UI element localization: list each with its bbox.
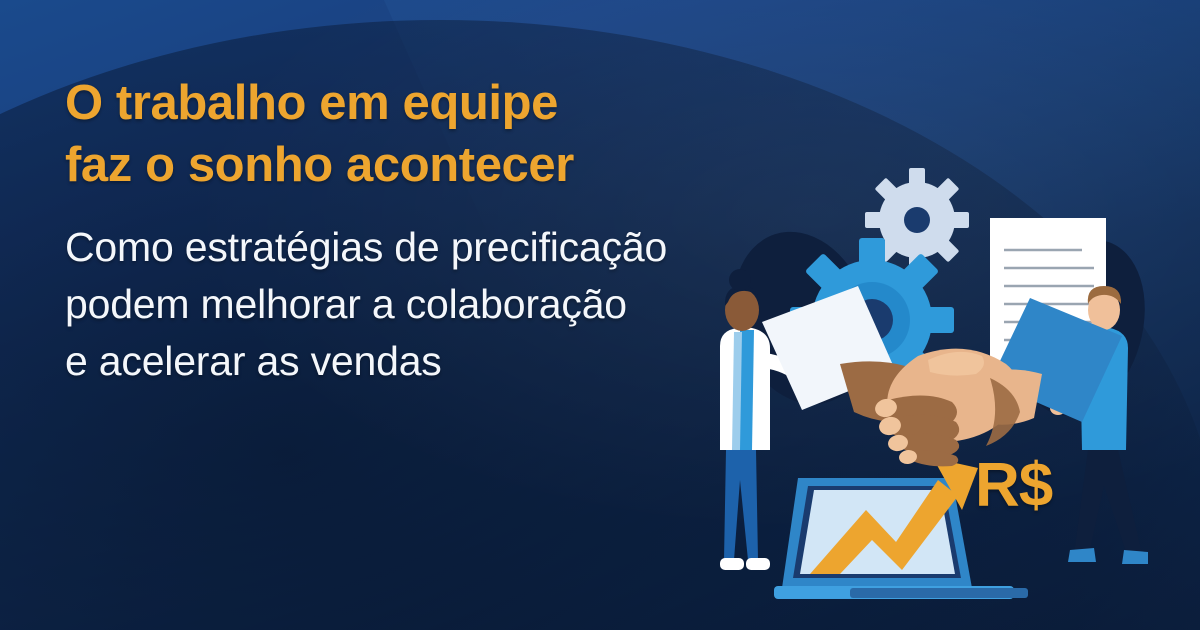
headline: O trabalho em equipe faz o sonho acontec… xyxy=(65,72,765,196)
promo-banner: O trabalho em equipe faz o sonho acontec… xyxy=(0,0,1200,630)
currency-symbol: R$ xyxy=(975,450,1052,521)
subheadline: Como estratégias de precificação podem m… xyxy=(65,219,765,390)
copy-block: O trabalho em equipe faz o sonho acontec… xyxy=(65,72,765,390)
illustration: R$ xyxy=(690,150,1200,630)
